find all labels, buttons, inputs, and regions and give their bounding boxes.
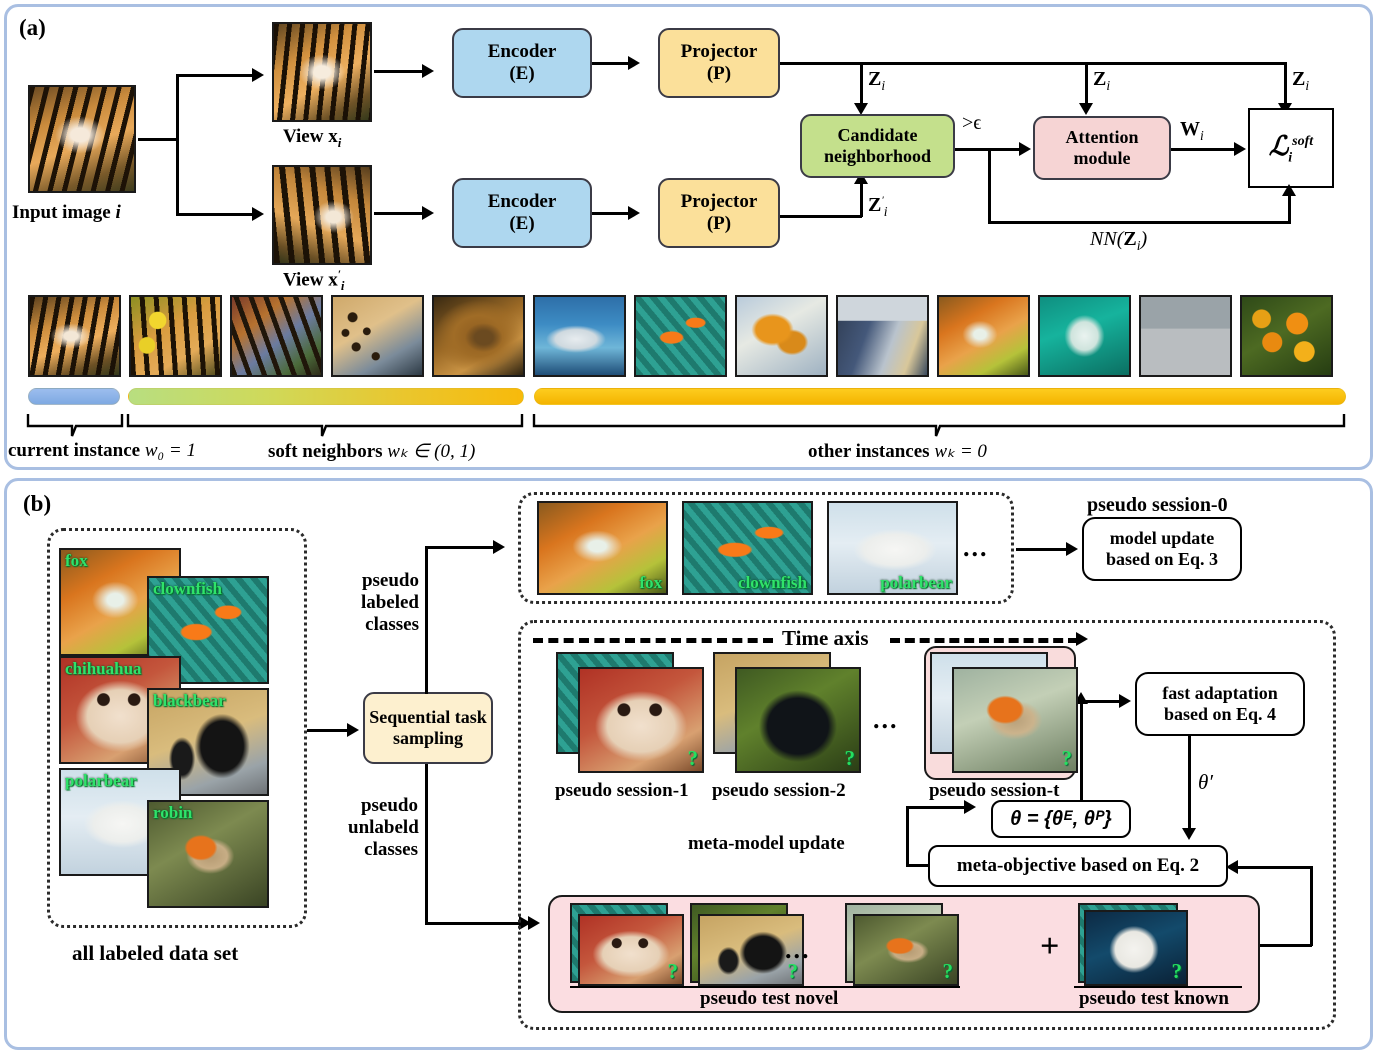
session0-item-label: polarbear — [880, 573, 952, 593]
input-image-thumbnail — [28, 85, 136, 193]
view-bottom-thumbnail — [272, 165, 372, 265]
view-top-thumbnail — [272, 22, 372, 122]
unknown-label-question-mark: ? — [1172, 959, 1183, 984]
signal-z-prime: Z′i — [868, 194, 888, 220]
encoder-bottom-box: Encoder(E) — [452, 178, 592, 248]
session0-item: clownfish — [682, 501, 813, 595]
time-axis-label: Time axis — [782, 626, 869, 651]
panel-a-label: (a) — [19, 15, 46, 41]
sessions-ellipsis: ... — [873, 705, 899, 735]
signal-z-loss: Zi — [1292, 68, 1309, 94]
brace-soft — [126, 412, 526, 438]
unknown-label-question-mark: ? — [1062, 746, 1073, 771]
soft-loss-box: ℒisoft — [1248, 108, 1334, 188]
meta-model-update-label: meta-model update — [688, 833, 845, 855]
session0-ellipsis: ... — [963, 533, 989, 563]
pseudo-test-novel-caption: pseudo test novel — [700, 988, 838, 1010]
instance-thumbnail — [230, 295, 323, 377]
signal-z-candidate: Zi — [868, 68, 885, 94]
pseudo-session-0-title: pseudo session-0 — [1087, 494, 1228, 517]
fast-adaptation-box: fast adaptationbased on Eq. 4 — [1135, 672, 1305, 736]
test-known-card-front: ? — [1084, 910, 1188, 986]
unknown-label-question-mark: ? — [668, 959, 679, 984]
test-novel-card-front: ? — [578, 914, 684, 986]
dataset-item-label: fox — [65, 551, 88, 571]
instance-thumbnail — [331, 295, 424, 377]
plus-sign: + — [1040, 928, 1059, 966]
session0-item: fox — [537, 501, 668, 595]
unknown-label-question-mark: ? — [688, 746, 699, 771]
unknown-label-question-mark: ? — [943, 959, 954, 984]
instance-thumbnail — [533, 295, 626, 377]
nn-label: NN(Zi) — [1090, 228, 1147, 254]
candidate-neighborhood-box: Candidateneighborhood — [800, 114, 955, 178]
instance-thumbnail — [1038, 295, 1131, 377]
model-update-box: model updatebased on Eq. 3 — [1082, 517, 1242, 581]
session0-item: polarbear — [827, 501, 958, 595]
instance-thumbnail — [634, 295, 727, 377]
panel-b-label: (b) — [23, 491, 51, 517]
meta-objective-box: meta-objective based on Eq. 2 — [928, 845, 1228, 887]
unknown-label-question-mark: ? — [845, 746, 856, 771]
weight-bar-current — [28, 388, 120, 405]
instance-thumbnail — [432, 295, 525, 377]
legend-other-instances: other instances wₖ = 0 — [808, 440, 987, 463]
session-card-front: ? — [578, 667, 704, 773]
dataset-item-label: robin — [153, 803, 192, 823]
signal-w-i: Wi — [1180, 118, 1204, 144]
instance-thumbnail — [735, 295, 828, 377]
weight-bar-soft — [128, 388, 524, 405]
view-bottom-caption: View x′i — [283, 269, 345, 294]
view-top-caption: View xi — [283, 126, 341, 151]
input-image-caption: Input image i — [12, 202, 121, 224]
session-caption: pseudo session-2 — [712, 780, 846, 802]
legend-current-instance: current instance w₀ = 1 — [8, 440, 196, 462]
session-caption: pseudo session-t — [929, 780, 1059, 802]
test-ellipsis: ... — [785, 935, 811, 965]
brace-other — [532, 412, 1348, 438]
session-card-front: ? — [952, 667, 1078, 773]
theta-prime-label: θ′ — [1198, 770, 1213, 795]
encoder-top-box: Encoder(E) — [452, 28, 592, 98]
legend-soft-neighbors: soft neighbors wₖ ∈ (0, 1) — [268, 440, 475, 463]
dataset-item-label: chihuahua — [65, 659, 142, 679]
time-axis-line-left — [533, 638, 773, 643]
attention-module-box: Attentionmodule — [1033, 116, 1171, 180]
instance-thumbnail — [1240, 295, 1333, 377]
dataset-item: robin — [147, 800, 269, 908]
sequential-task-sampling-box: Sequential tasksampling — [363, 692, 493, 764]
branch-label-pseudo-unlabeled: pseudo unlabeld classes — [348, 795, 418, 861]
instance-thumbnail — [28, 295, 121, 377]
projector-bottom-box: Projector(P) — [658, 178, 780, 248]
signal-z-attention: Zi — [1093, 68, 1110, 94]
dataset-item-label: polarbear — [65, 771, 137, 791]
session-card-front: ? — [735, 667, 861, 773]
pseudo-test-known-caption: pseudo test known — [1079, 988, 1229, 1010]
session-caption: pseudo session-1 — [555, 780, 689, 802]
dataset-item-label: clownfish — [153, 579, 222, 599]
theta-parameters-box: θ = {θᴱ, θᴾ} — [991, 800, 1131, 838]
session0-item-label: fox — [639, 573, 662, 593]
projector-top-box: Projector(P) — [658, 28, 780, 98]
branch-label-pseudo-labeled: pseudo labeled classes — [351, 570, 419, 636]
threshold-epsilon: >ϵ — [962, 112, 981, 135]
session0-item-label: clownfish — [738, 573, 807, 593]
instance-thumbnail — [1139, 295, 1232, 377]
dataset-caption: all labeled data set — [72, 941, 238, 966]
time-axis-line-right — [890, 638, 1078, 643]
test-novel-card-front: ? — [853, 914, 959, 986]
brace-current — [26, 412, 126, 438]
dataset-item-label: blackbear — [153, 691, 226, 711]
instance-thumbnail — [836, 295, 929, 377]
weight-bar-other — [534, 388, 1346, 405]
instance-thumbnail — [937, 295, 1030, 377]
instance-thumbnail — [129, 295, 222, 377]
